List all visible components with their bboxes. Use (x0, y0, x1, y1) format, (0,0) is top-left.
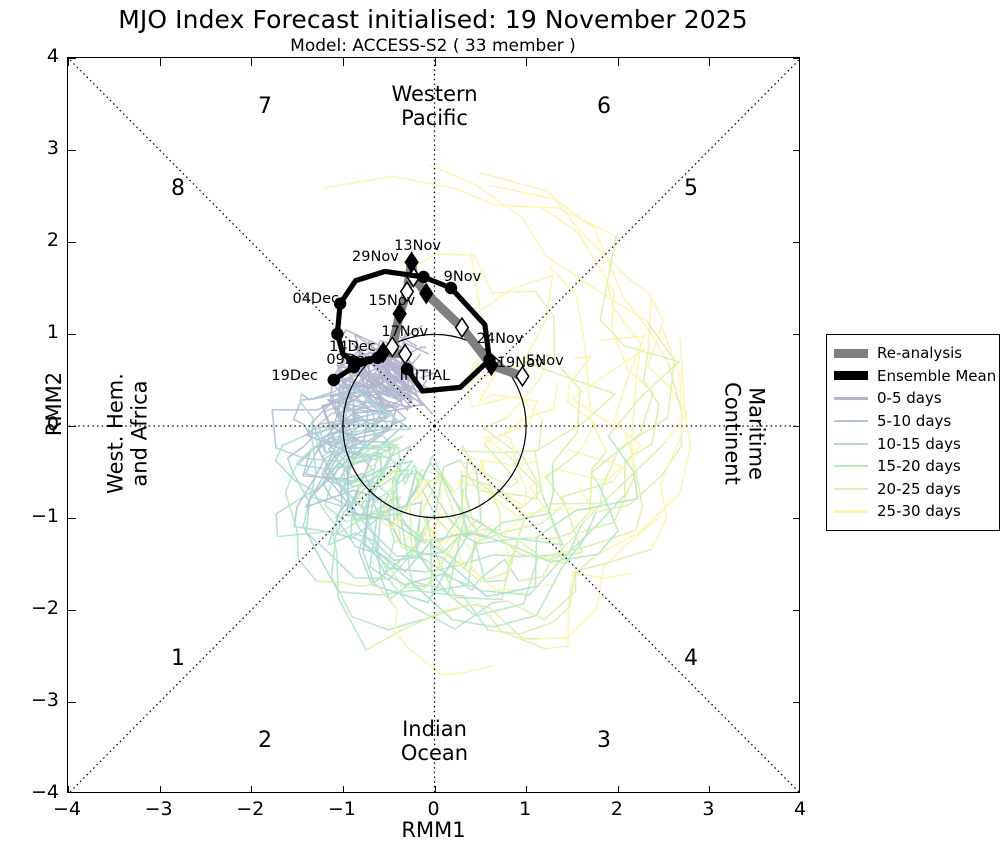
region-label-maritime-continent-line2: Continent (721, 382, 745, 485)
date-label-initial: INITIAL (400, 368, 451, 384)
ensemble-mean-marker (483, 354, 495, 366)
legend-label: 15-20 days (877, 457, 961, 475)
x-tick-label: 2 (587, 798, 647, 820)
x-tick-label: 1 (495, 798, 555, 820)
x-tick (343, 786, 344, 793)
member-track-segment (278, 531, 367, 650)
region-label-indian-ocean-line1: Indian (402, 717, 467, 741)
legend-swatch-icon (834, 488, 868, 490)
region-label-indian-ocean: IndianOcean (325, 718, 545, 765)
legend-color-bar (834, 397, 868, 399)
x-tick (435, 786, 436, 793)
x-tick (435, 58, 436, 66)
legend-color-bar (834, 488, 868, 490)
y-tick (68, 610, 76, 611)
y-tick-label: −4 (0, 781, 59, 803)
phase-number-1: 1 (158, 646, 198, 671)
phase-number-6: 6 (584, 94, 624, 119)
region-label-west-hem-africa-line2: and Africa (127, 380, 151, 486)
legend: Re-analysisEnsemble Mean0-5 days5-10 day… (826, 334, 1000, 531)
x-tick (526, 786, 527, 793)
date-label-9nov: 9Nov (444, 269, 482, 285)
x-tick (68, 58, 69, 66)
phase-number-5: 5 (671, 176, 711, 201)
date-label-04dec: 04Dec (292, 291, 339, 307)
y-tick-label: 2 (0, 229, 59, 251)
x-tick (251, 786, 252, 793)
x-tick (160, 58, 161, 66)
legend-item-20-25-days[interactable]: 20-25 days (834, 478, 993, 501)
legend-label: 20-25 days (877, 480, 961, 498)
legend-color-bar (834, 420, 868, 422)
member-track-segment (324, 176, 616, 236)
legend-color-bar (834, 465, 868, 467)
region-label-west-hem-africa-line1: West. Hem. (103, 373, 127, 494)
phase-number-2: 2 (245, 728, 285, 753)
region-label-maritime-continent-line1: Maritime (745, 387, 769, 480)
legend-item-ensemble-mean[interactable]: Ensemble Mean (834, 365, 993, 388)
y-tick-label: −3 (0, 689, 59, 711)
member-track-segment (338, 590, 488, 630)
y-tick (793, 518, 800, 519)
date-label-29nov: 29Nov (352, 249, 399, 265)
y-tick (793, 610, 800, 611)
x-tick (618, 58, 619, 66)
mjo-phase-diagram: WesternPacificIndianOceanWest. Hem.and A… (67, 57, 800, 793)
phase-number-4: 4 (671, 646, 711, 671)
legend-swatch-icon (834, 443, 868, 445)
y-tick-label: 4 (0, 45, 59, 67)
y-tick (68, 702, 76, 703)
date-label-15nov: 15Nov (369, 293, 416, 309)
x-tick (160, 786, 161, 793)
y-tick (793, 150, 800, 151)
x-tick (526, 58, 527, 66)
page-title: MJO Index Forecast initialised: 19 Novem… (0, 5, 866, 34)
region-label-west-hem-africa: West. Hem.and Africa (104, 324, 151, 544)
phase-number-3: 3 (584, 728, 624, 753)
region-label-maritime-continent: MaritimeContinent (721, 324, 768, 544)
legend-item-5-10-days[interactable]: 5-10 days (834, 410, 993, 433)
date-label-5nov: 5Nov (526, 353, 564, 369)
y-tick-label: 3 (0, 137, 59, 159)
legend-color-bar (834, 349, 868, 358)
x-tick-label: −2 (220, 798, 280, 820)
legend-swatch-icon (834, 349, 868, 358)
x-tick-label: 4 (770, 798, 830, 820)
y-tick (68, 58, 76, 59)
y-tick (68, 426, 76, 427)
legend-color-bar (834, 371, 868, 380)
legend-color-bar (834, 443, 868, 445)
legend-swatch-icon (834, 510, 868, 512)
y-tick (793, 242, 800, 243)
date-label-24nov: 24Nov (477, 331, 524, 347)
y-tick (793, 426, 800, 427)
member-track-segment (488, 556, 595, 634)
y-tick (68, 150, 76, 151)
plot-canvas (68, 58, 800, 793)
legend-label: Ensemble Mean (877, 367, 996, 385)
region-label-western-pacific-line2: Pacific (401, 106, 468, 130)
y-tick (793, 58, 800, 59)
region-label-western-pacific-line1: Western (391, 82, 477, 106)
legend-swatch-icon (834, 465, 868, 467)
member-track-segment (317, 581, 397, 608)
y-tick (793, 702, 800, 703)
date-label-09dec: 09Dec (326, 352, 373, 368)
date-label-19dec: 19Dec (271, 368, 318, 384)
phase-number-7: 7 (245, 94, 285, 119)
member-track-segment (395, 609, 493, 675)
y-tick-label: 0 (0, 413, 59, 435)
legend-item-25-30-days[interactable]: 25-30 days (834, 500, 993, 523)
legend-label: 0-5 days (877, 389, 942, 407)
x-tick-label: −3 (129, 798, 189, 820)
y-tick (793, 334, 800, 335)
phase-number-8: 8 (158, 176, 198, 201)
y-tick (68, 242, 76, 243)
region-label-western-pacific: WesternPacific (325, 83, 545, 130)
x-tick-label: 3 (678, 798, 738, 820)
ensemble-mean-marker (417, 271, 429, 283)
x-tick (343, 58, 344, 66)
legend-label: 25-30 days (877, 502, 961, 520)
region-label-indian-ocean-line2: Ocean (401, 741, 468, 765)
x-tick-label: 0 (404, 798, 464, 820)
member-track-segment (599, 336, 644, 482)
x-tick (251, 58, 252, 66)
legend-color-bar (834, 510, 868, 512)
member-track-segment (625, 346, 659, 495)
y-tick (68, 334, 76, 335)
y-tick-label: 1 (0, 321, 59, 343)
x-tick (709, 58, 710, 66)
legend-swatch-icon (834, 371, 868, 380)
x-axis-label: RMM1 (67, 818, 800, 842)
member-track-segment (480, 173, 651, 346)
date-label-13nov: 13Nov (394, 238, 441, 254)
legend-item-10-15-days[interactable]: 10-15 days (834, 432, 993, 455)
ensemble-member-tracks (272, 165, 690, 675)
date-label-17nov: 17Nov (381, 324, 428, 340)
legend-label: 10-15 days (877, 435, 961, 453)
member-track-segment (507, 549, 652, 619)
legend-item-15-20-days[interactable]: 15-20 days (834, 455, 993, 478)
x-tick-label: −1 (312, 798, 372, 820)
legend-swatch-icon (834, 420, 868, 422)
y-tick-label: −2 (0, 597, 59, 619)
x-tick (709, 786, 710, 793)
legend-label: 5-10 days (877, 412, 951, 430)
page-subtitle: Model: ACCESS-S2 ( 33 member ) (0, 36, 866, 56)
y-axis-label: RMM2 (42, 334, 66, 474)
legend-item-0-5-days[interactable]: 0-5 days (834, 387, 993, 410)
member-track-segment (366, 604, 545, 650)
legend-item-re-analysis[interactable]: Re-analysis (834, 342, 993, 365)
legend-swatch-icon (834, 397, 868, 399)
ensemble-mean-marker (328, 374, 340, 386)
y-tick-label: −1 (0, 505, 59, 527)
legend-label: Re-analysis (877, 344, 962, 362)
x-tick (618, 786, 619, 793)
phase-guide-lines (68, 58, 800, 793)
y-tick (68, 518, 76, 519)
x-tick (68, 786, 69, 793)
